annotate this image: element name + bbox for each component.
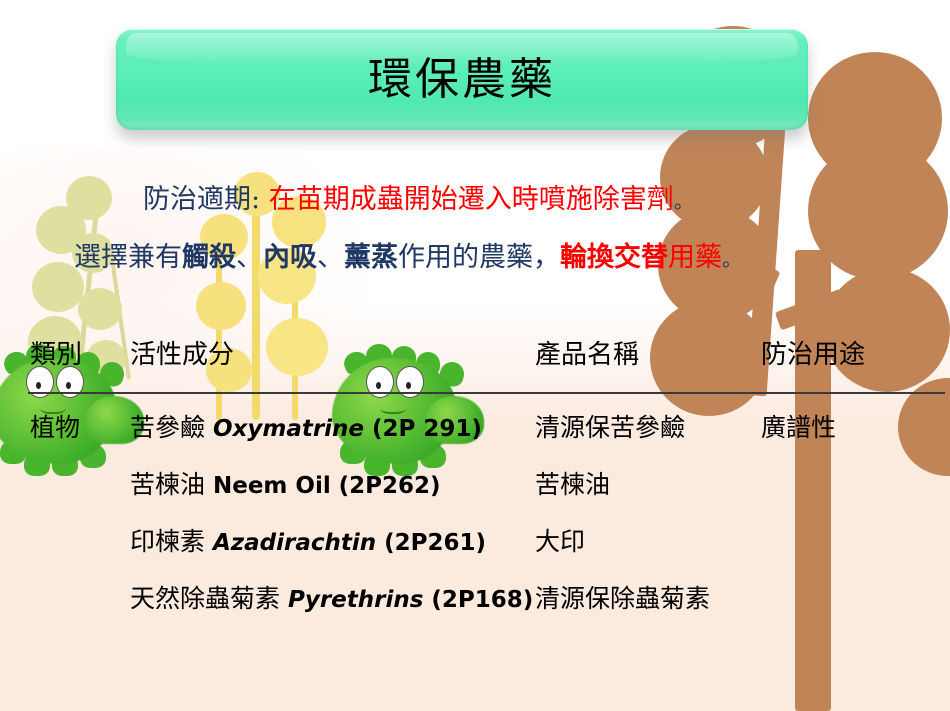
body-line-2: 選擇兼有觸殺、內吸、薰蒸作用的農藥，輪換交替用藥。 [74,244,742,271]
cell-product: 清源保除蟲菊素 [535,582,710,616]
pesticide-table: 類別 活性成分 產品名稱 防治用途 植物 苦參鹼 Oxymatrine (2P … [0,338,950,639]
line2-part2: 作用的農藥， [398,242,560,273]
line2-sep2: 、 [317,242,344,273]
ingredient-code: (2P168) [431,587,533,613]
table-row: 植物 苦參鹼 Oxymatrine (2P 291) 清源保苦參鹼 廣譜性 [0,411,950,468]
ingredient-scientific: Azadirachtin [213,530,376,556]
table-row: 印楝素 Azadirachtin (2P261) 大印 [0,525,950,582]
line2-sep1: 、 [236,242,263,273]
column-header-product: 產品名稱 [535,338,639,372]
cell-product: 清源保苦參鹼 [535,411,685,445]
slide-canvas: 環保農藥 防治適期: 在苗期成蟲開始遷入時噴施除害劑。 選擇兼有觸殺、內吸、薰蒸… [0,0,950,711]
table-header-divider [28,392,945,394]
body-line-1: 防治適期: 在苗期成蟲開始遷入時噴施除害劑。 [143,186,694,213]
cell-product: 大印 [535,525,585,559]
title-banner: 環保農藥 [116,29,808,130]
line2-period: 。 [722,247,742,271]
table-header-row: 類別 活性成分 產品名稱 防治用途 [0,338,950,395]
column-header-category: 類別 [30,338,82,372]
cell-ingredient: 印楝素 Azadirachtin (2P261) [130,525,486,560]
table-row: 苦楝油 Neem Oil (2P262) 苦楝油 [0,468,950,525]
line2-red-bold: 輪換交替 [560,242,668,273]
line1-highlight: 在苗期成蟲開始遷入時噴施除害劑 [269,184,674,215]
ingredient-scientific: Pyrethrins [288,587,423,613]
column-header-ingredient: 活性成分 [130,338,234,372]
ingredient-scientific: Oxymatrine [213,416,364,442]
ingredient-scientific: Neem Oil [213,473,331,499]
ingredient-code: (2P 291) [372,416,482,442]
ingredient-cn: 印楝素 [130,527,205,556]
line2-red: 用藥 [668,242,722,273]
line2-part1: 選擇兼有 [74,242,182,273]
line1-label: 防治適期: [143,184,260,215]
line2-bold-systemic: 內吸 [263,242,317,273]
cell-category: 植物 [30,411,80,445]
line1-period: 。 [674,189,694,213]
ingredient-code: (2P261) [384,530,486,556]
cell-ingredient: 天然除蟲菊素 Pyrethrins (2P168) [130,582,533,617]
column-header-use: 防治用途 [761,338,865,372]
line2-bold-fumigant: 薰蒸 [344,242,398,273]
ingredient-cn: 苦參鹼 [130,413,205,442]
cell-use: 廣譜性 [761,411,836,445]
ingredient-code: (2P262) [339,473,441,499]
cell-ingredient: 苦楝油 Neem Oil (2P262) [130,468,441,503]
table-row: 天然除蟲菊素 Pyrethrins (2P168) 清源保除蟲菊素 [0,582,950,639]
cell-ingredient: 苦參鹼 Oxymatrine (2P 291) [130,411,482,446]
line2-bold-contact: 觸殺 [182,242,236,273]
ingredient-cn: 天然除蟲菊素 [130,584,280,613]
cell-product: 苦楝油 [535,468,610,502]
page-title: 環保農藥 [368,58,556,102]
ingredient-cn: 苦楝油 [130,470,205,499]
